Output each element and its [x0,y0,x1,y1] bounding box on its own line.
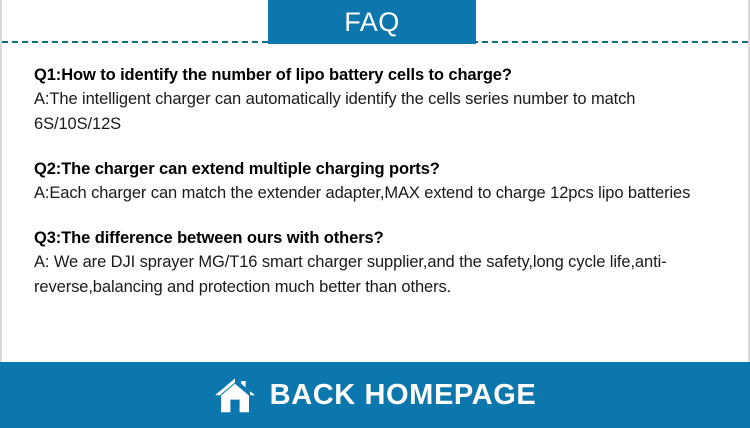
faq-answer: A: We are DJI sprayer MG/T16 smart charg… [34,250,716,300]
faq-list: Q1:How to identify the number of lipo ba… [34,63,716,300]
back-homepage-label: BACK HOMEPAGE [270,381,537,410]
faq-item: Q1:How to identify the number of lipo ba… [34,63,716,137]
home-icon [214,376,256,414]
faq-item: Q2:The charger can extend multiple charg… [34,157,716,206]
faq-question: Q2:The charger can extend multiple charg… [34,157,716,181]
faq-answer: A:Each charger can match the extender ad… [34,181,716,206]
page-header: FAQ [2,0,748,44]
faq-page: FAQ Q1:How to identify the number of lip… [0,0,750,428]
faq-answer: A:The intelligent charger can automatica… [34,87,716,137]
page-title: FAQ [344,7,400,38]
back-homepage-button[interactable]: BACK HOMEPAGE [0,362,750,428]
faq-question: Q3:The difference between ours with othe… [34,226,716,250]
faq-item: Q3:The difference between ours with othe… [34,226,716,300]
faq-title-badge: FAQ [268,0,476,44]
faq-question: Q1:How to identify the number of lipo ba… [34,63,716,87]
